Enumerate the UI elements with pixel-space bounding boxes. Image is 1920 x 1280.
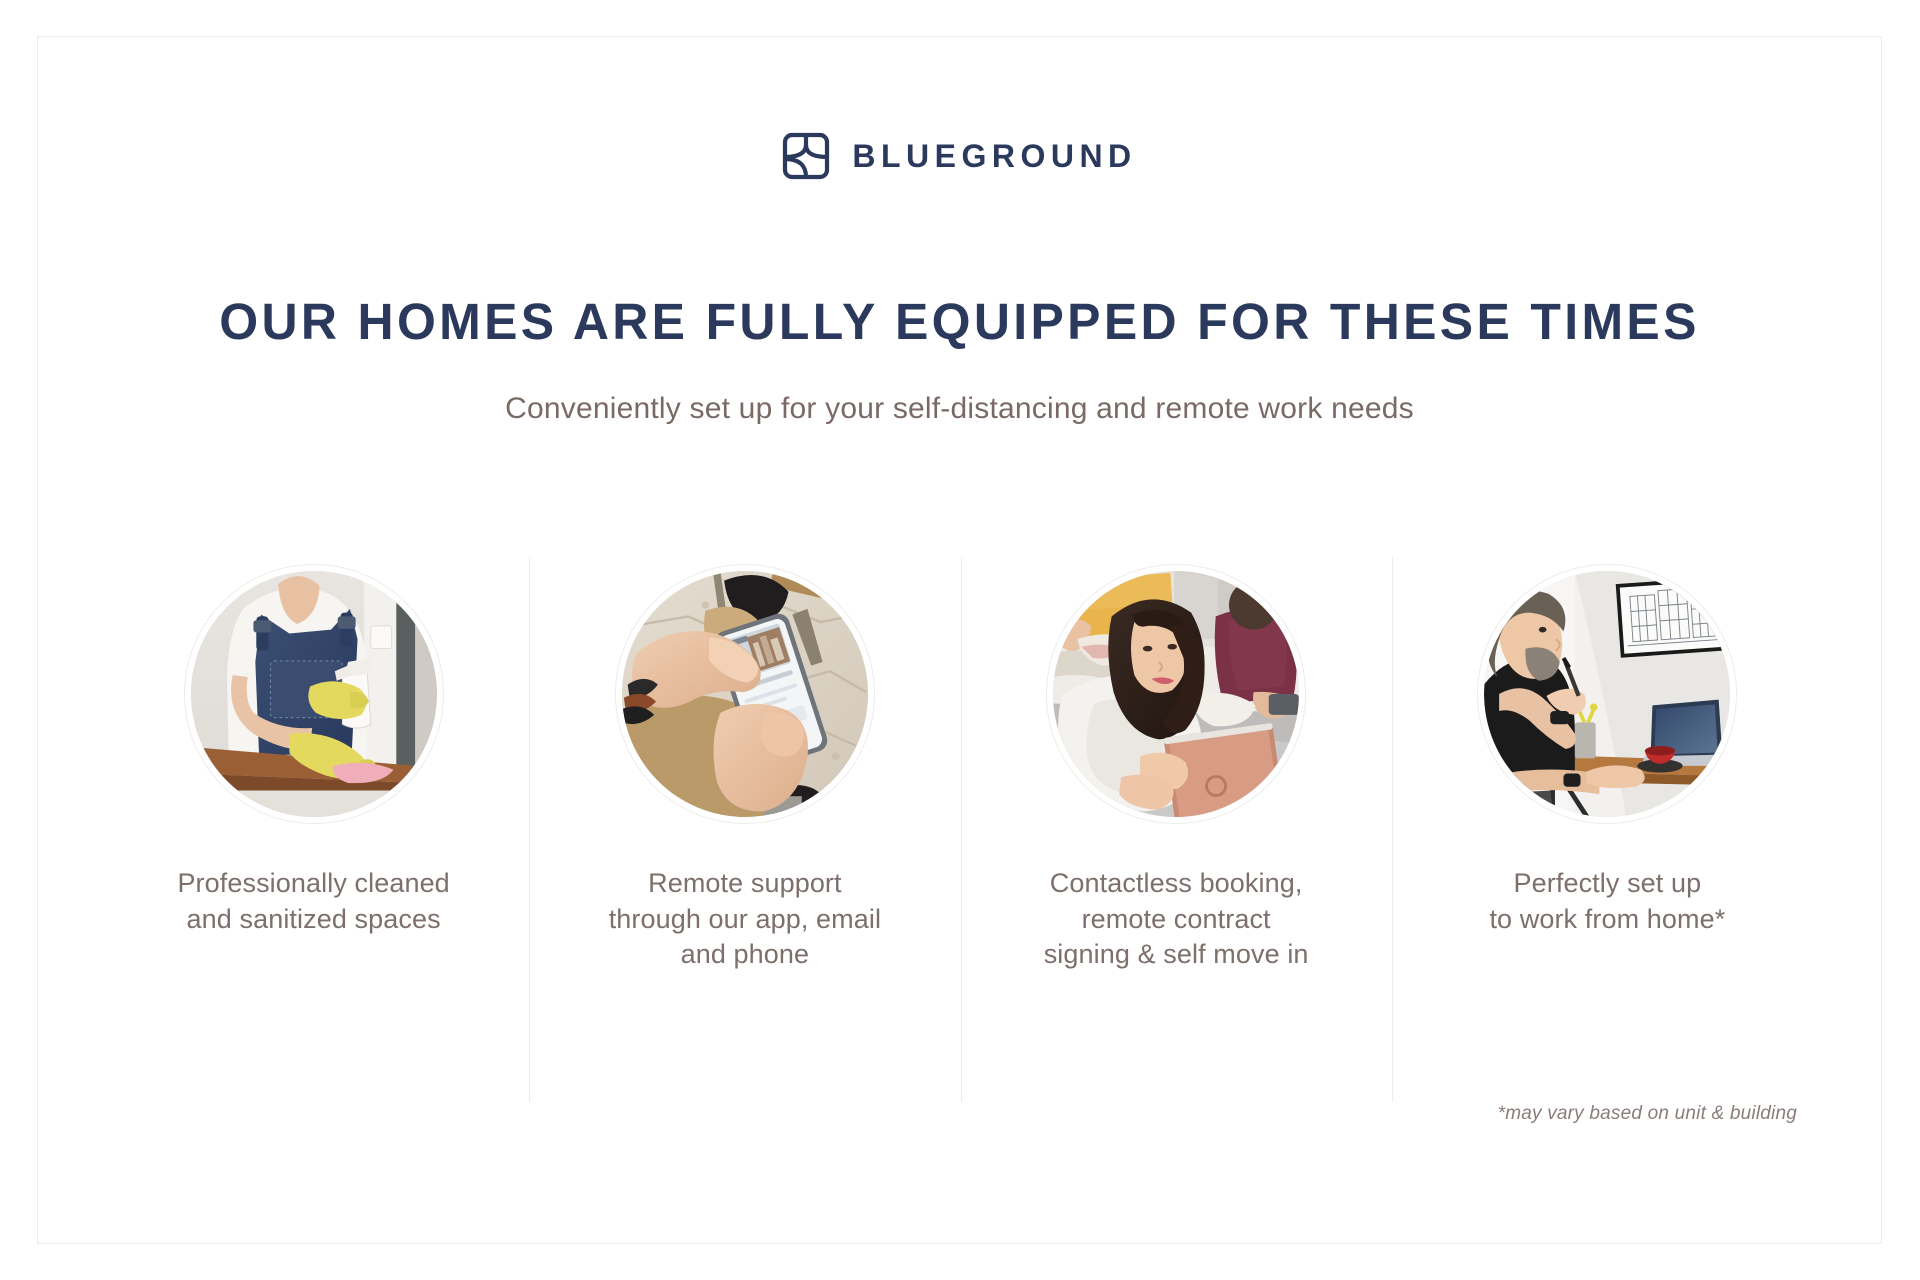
caption-line: to work from home*: [1489, 902, 1725, 938]
footnote-disclaimer: *may vary based on unit & building: [1498, 1103, 1797, 1125]
smartphone-app-photo: [622, 571, 868, 817]
feature-column-remote-support: Remote support through our app, email an…: [529, 557, 960, 1102]
caption-line: remote contract: [1044, 902, 1309, 938]
caption-line: Professionally cleaned: [177, 866, 449, 902]
caption-line: and phone: [609, 937, 881, 973]
feature-caption: Professionally cleaned and sanitized spa…: [177, 866, 449, 937]
feature-column-cleaning: Professionally cleaned and sanitized spa…: [98, 557, 529, 1102]
work-from-home-photo: [1484, 571, 1730, 817]
feature-column-work-from-home: Perfectly set up to work from home*: [1392, 557, 1823, 1102]
caption-line: Remote support: [609, 866, 881, 902]
caption-line: through our app, email: [609, 902, 881, 938]
tablet-booking-photo: [1053, 571, 1299, 817]
feature-caption: Contactless booking, remote contract sig…: [1044, 866, 1309, 973]
feature-image-frame: [184, 564, 444, 824]
caption-line: Contactless booking,: [1044, 866, 1309, 902]
feature-columns: Professionally cleaned and sanitized spa…: [98, 557, 1823, 1102]
feature-image-frame: [1477, 564, 1737, 824]
caption-line: and sanitized spaces: [177, 902, 449, 938]
feature-caption: Remote support through our app, email an…: [609, 866, 881, 973]
infographic-card: BLUEGROUND OUR HOMES ARE FULLY EQUIPPED …: [37, 36, 1882, 1244]
caption-line: Perfectly set up: [1489, 866, 1725, 902]
brand-lockup: BLUEGROUND: [38, 132, 1881, 180]
feature-column-contactless-booking: Contactless booking, remote contract sig…: [961, 557, 1392, 1102]
feature-caption: Perfectly set up to work from home*: [1489, 866, 1725, 937]
caption-line: signing & self move in: [1044, 937, 1309, 973]
blueground-square-logo-icon: [782, 132, 830, 180]
cleaning-person-photo: [191, 571, 437, 817]
brand-name: BLUEGROUND: [852, 140, 1136, 172]
page-subtitle: Conveniently set up for your self-distan…: [38, 392, 1881, 426]
page-title: OUR HOMES ARE FULLY EQUIPPED FOR THESE T…: [56, 292, 1862, 351]
feature-image-frame: [1046, 564, 1306, 824]
feature-image-frame: [615, 564, 875, 824]
